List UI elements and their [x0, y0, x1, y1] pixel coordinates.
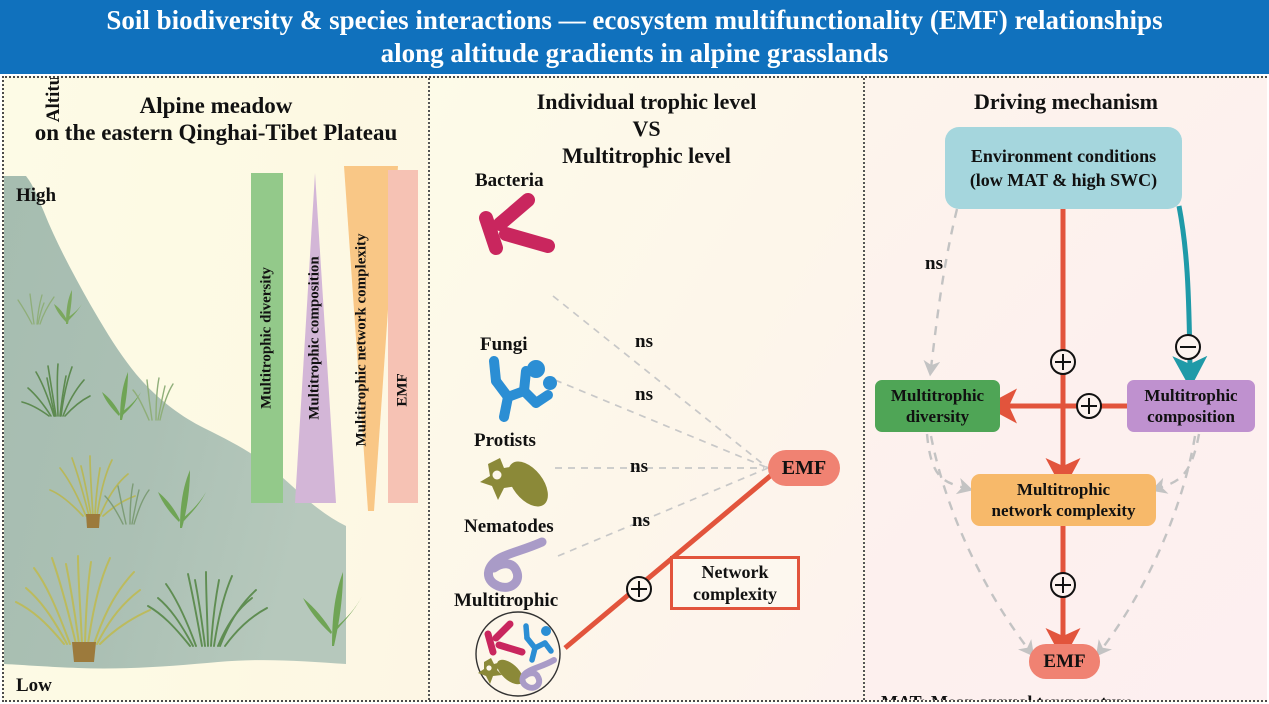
ns-label-fungi: ns — [635, 384, 653, 406]
edge-composition-emf-ns — [1101, 436, 1195, 650]
grass-base-golden-2 — [72, 642, 96, 662]
network-complexity-line-2: complexity — [693, 583, 777, 605]
node-multitrophic-network-complexity: Multitrophic network complexity — [971, 474, 1156, 526]
legend-line-mat: MAT: Mean annual temperature — [881, 689, 1132, 700]
grass-blade-medium-2 — [158, 470, 206, 528]
fungi-icon — [478, 353, 566, 425]
node-environment-conditions: Environment conditions (low MAT & high S… — [945, 127, 1182, 209]
grass-base-golden-1 — [86, 514, 100, 528]
bar-label-multitrophic-composition: Multitrophic composition — [307, 256, 324, 419]
bar-label-emf: EMF — [395, 373, 412, 406]
plus-symbol-composition-diversity — [1076, 393, 1102, 419]
grass-tuft-small-2 — [133, 378, 173, 420]
ns-label-env-diversity: ns — [925, 253, 943, 275]
title-line-2: along altitude gradients in alpine grass… — [381, 37, 889, 70]
bar-label-multitrophic-diversity: Multitrophic diversity — [259, 267, 276, 409]
grass-tuft-large-golden — [16, 556, 150, 644]
node-multitrophic-diversity: Multitrophic diversity — [875, 380, 1000, 432]
panel-divider-1 — [428, 78, 430, 700]
panel-driving-mechanism: Driving mechanism — [865, 78, 1267, 700]
node-env-line-2: (low MAT & high SWC) — [970, 168, 1157, 192]
panel-divider-2 — [863, 78, 865, 700]
grass-tuft-small-1 — [18, 294, 54, 324]
plus-symbol-env-network — [1050, 349, 1076, 375]
title-line-1: Soil biodiversity & species interactions… — [106, 4, 1162, 37]
grass-tuft-medium-1 — [22, 364, 90, 416]
node-emf-label: EMF — [1043, 651, 1085, 673]
ns-label-protists: ns — [630, 456, 648, 478]
network-complexity-line-1: Network — [702, 561, 769, 583]
panel-trophic-comparison: Individual trophic level VS Multitrophic… — [430, 78, 863, 700]
node-comp-line-2: composition — [1147, 406, 1235, 427]
organism-label-nematodes: Nematodes — [464, 516, 554, 538]
node-net-line-1: Multitrophic — [1017, 479, 1110, 500]
plus-symbol-network-emf — [1050, 572, 1076, 598]
panel-left-title-line-2: on the eastern Qinghai-Tibet Plateau — [4, 119, 428, 146]
grass-tuft-large-green — [148, 572, 267, 646]
panel-left-title-line-1: Alpine meadow — [4, 92, 428, 119]
node-div-line-2: diversity — [906, 406, 969, 427]
ns-label-nematodes: ns — [632, 510, 650, 532]
organism-label-bacteria: Bacteria — [475, 170, 544, 192]
bar-label-multitrophic-network-complexity: Multitrophic network complexity — [354, 233, 371, 446]
protist-icon — [474, 450, 566, 514]
node-div-line-1: Multitrophic — [891, 385, 984, 406]
grass-blade-medium-1 — [102, 372, 141, 420]
altitude-axis-label: Altitude — [43, 78, 65, 139]
node-env-line-1: Environment conditions — [971, 144, 1156, 168]
emf-node-middle: EMF — [768, 450, 840, 486]
graphical-abstract: Soil biodiversity & species interactions… — [0, 0, 1269, 704]
panel-alpine-meadow: Alpine meadow on the eastern Qinghai-Tib… — [4, 78, 428, 700]
edge-bacteria-emf — [553, 296, 768, 468]
node-net-line-2: network complexity — [991, 500, 1135, 521]
edge-diversity-emf-ns — [931, 436, 1029, 650]
bacteria-icon — [474, 190, 562, 262]
minus-symbol-env-composition — [1175, 334, 1201, 360]
multitrophic-circle-icon — [466, 610, 570, 700]
panel-left-title: Alpine meadow on the eastern Qinghai-Tib… — [4, 92, 428, 146]
ns-label-bacteria: ns — [635, 331, 653, 353]
grass-blade-large — [303, 572, 362, 646]
grass-tuft-small-3 — [105, 484, 149, 524]
organism-label-multitrophic: Multitrophic — [454, 590, 558, 612]
network-complexity-box: Network complexity — [670, 556, 800, 610]
node-comp-line-1: Multitrophic — [1144, 385, 1237, 406]
edge-env-diversity-ns — [931, 209, 957, 368]
node-multitrophic-composition: Multitrophic composition — [1127, 380, 1255, 432]
title-banner: Soil biodiversity & species interactions… — [0, 0, 1269, 74]
bar-emf — [388, 170, 418, 503]
plus-symbol-multitrophic-emf — [626, 576, 652, 602]
edge-fungi-emf — [555, 380, 768, 468]
figure-body: Alpine meadow on the eastern Qinghai-Tib… — [2, 76, 1267, 702]
organism-label-protists: Protists — [474, 430, 536, 452]
abbreviation-legend: MAT: Mean annual temperature SWC: Soil w… — [881, 689, 1132, 700]
grass-blade-small-1 — [54, 290, 82, 324]
node-emf-right: EMF — [1029, 644, 1100, 679]
edge-nematodes-emf — [558, 468, 768, 556]
